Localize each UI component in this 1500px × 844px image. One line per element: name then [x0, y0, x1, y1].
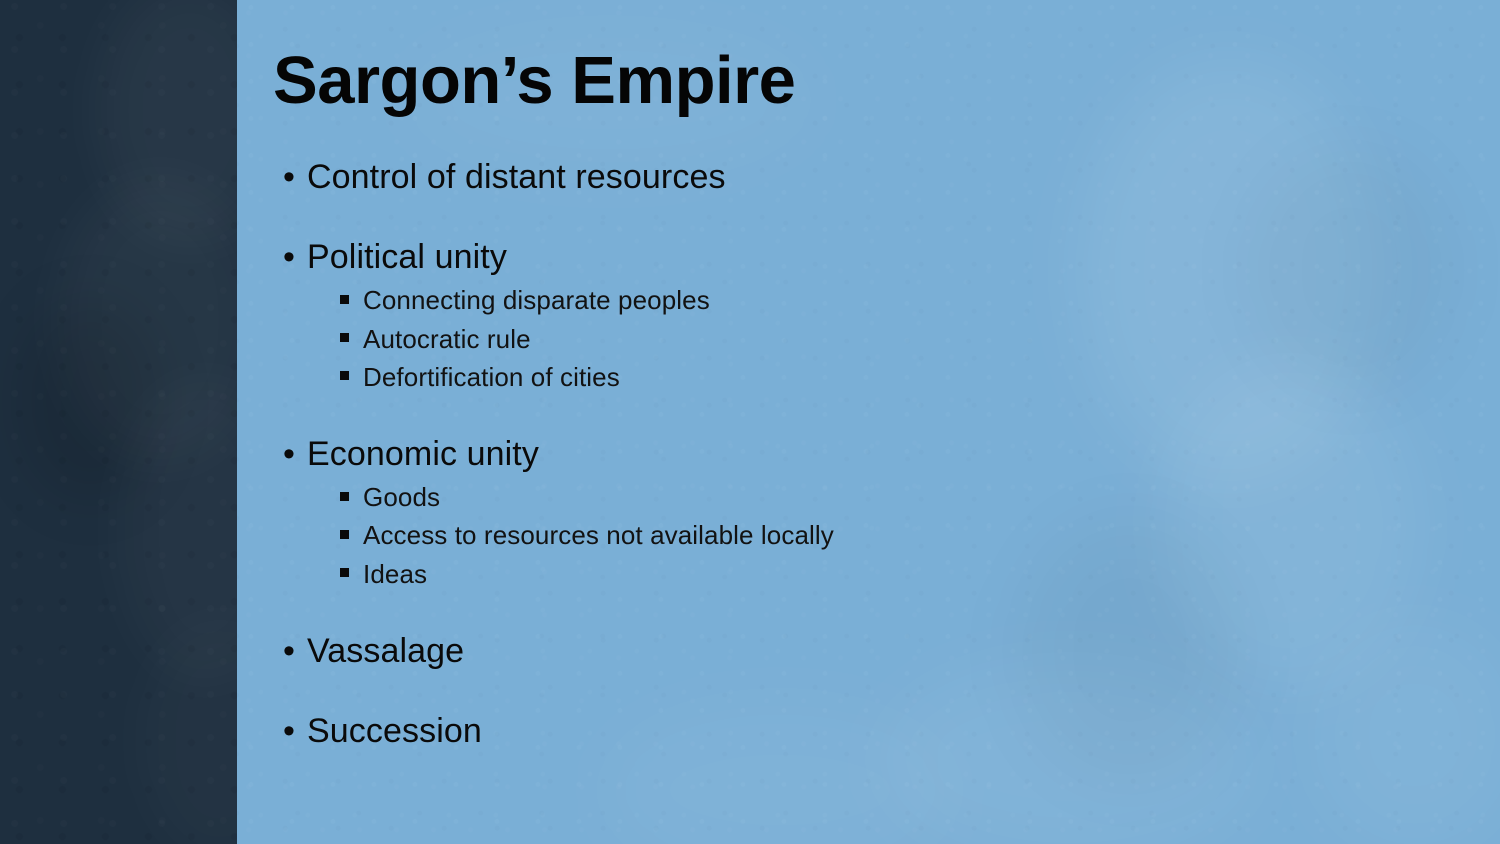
slide-content: Sargon’s Empire • Control of distant res… [237, 0, 1500, 844]
sub-bullet-text: Access to resources not available locall… [363, 520, 834, 550]
slide-title: Sargon’s Empire [273, 45, 795, 117]
bullet-marker-icon: • [283, 709, 295, 753]
bullet-item: • Succession [273, 709, 1480, 753]
bullet-item: • Control of distant resources [273, 155, 1480, 199]
sidebar-accent-panel [0, 0, 237, 844]
bullet-marker-icon: • [283, 629, 295, 673]
spacer [273, 199, 1480, 235]
slide-body-outline: • Control of distant resources • Politic… [273, 155, 1480, 753]
square-bullet-icon [340, 492, 349, 501]
sub-bullet-item: Ideas [273, 555, 1480, 593]
bullet-marker-icon: • [283, 155, 295, 199]
sub-bullet-list: Connecting disparate peoples Autocratic … [273, 281, 1480, 396]
spacer [273, 396, 1480, 432]
bullet-text: Political unity [307, 238, 507, 276]
bullet-text: Succession [307, 712, 482, 750]
bullet-text: Vassalage [307, 632, 464, 670]
square-bullet-icon [340, 295, 349, 304]
bullet-item: • Political unity [273, 235, 1480, 279]
sub-bullet-text: Defortification of cities [363, 362, 620, 392]
sub-bullet-item: Goods [273, 478, 1480, 516]
presentation-slide: Sargon’s Empire • Control of distant res… [0, 0, 1500, 844]
sub-bullet-text: Connecting disparate peoples [363, 285, 710, 315]
square-bullet-icon [340, 333, 349, 342]
sidebar-texture [0, 0, 237, 844]
square-bullet-icon [340, 530, 349, 539]
bullet-item: • Vassalage [273, 629, 1480, 673]
spacer [273, 673, 1480, 709]
spacer [273, 593, 1480, 629]
sub-bullet-text: Ideas [363, 559, 427, 589]
sub-bullet-item: Access to resources not available locall… [273, 516, 1480, 554]
bullet-text: Control of distant resources [307, 158, 726, 196]
sub-bullet-list: Goods Access to resources not available … [273, 478, 1480, 593]
square-bullet-icon [340, 568, 349, 577]
bullet-marker-icon: • [283, 235, 295, 279]
sub-bullet-text: Autocratic rule [363, 324, 531, 354]
sub-bullet-item: Connecting disparate peoples [273, 281, 1480, 319]
sub-bullet-text: Goods [363, 482, 440, 512]
bullet-item: • Economic unity [273, 432, 1480, 476]
sub-bullet-item: Autocratic rule [273, 320, 1480, 358]
square-bullet-icon [340, 371, 349, 380]
bullet-text: Economic unity [307, 435, 539, 473]
bullet-marker-icon: • [283, 432, 295, 476]
sub-bullet-item: Defortification of cities [273, 358, 1480, 396]
